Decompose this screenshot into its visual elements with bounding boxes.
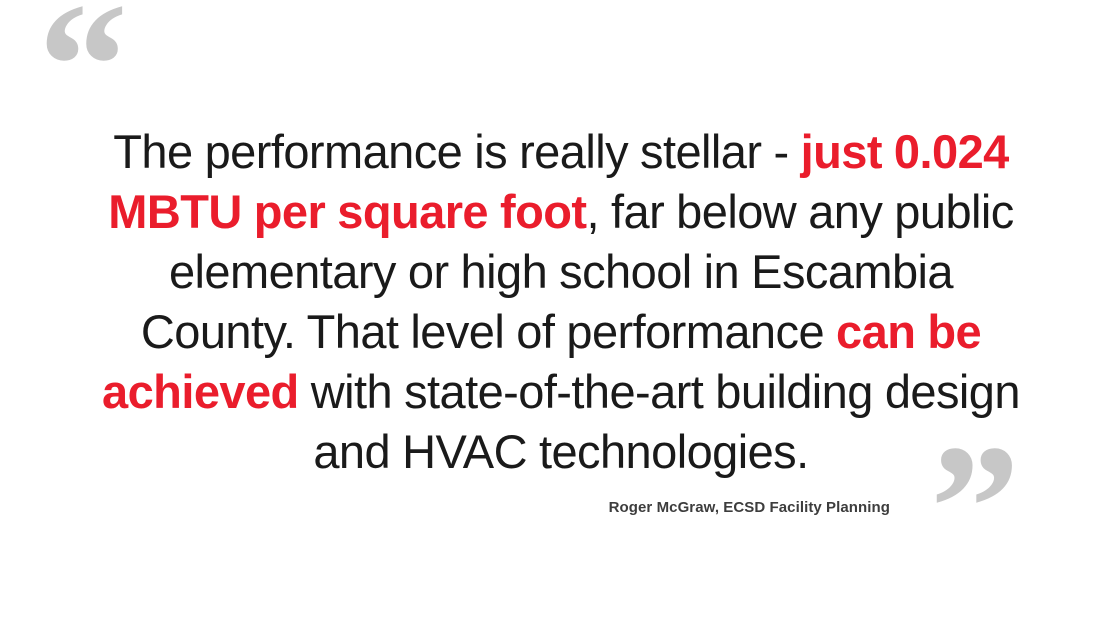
quote-segment-plain-1: The performance is really stellar -	[113, 125, 800, 178]
quote-text: The performance is really stellar - just…	[96, 122, 1026, 482]
quote-segment-plain-3: with state-of-the-art building design an…	[299, 365, 1020, 478]
close-quote-icon: ”	[930, 418, 1016, 598]
quote-slide: “ The performance is really stellar - ju…	[0, 0, 1120, 617]
quote-body: The performance is really stellar - just…	[96, 122, 1026, 482]
quote-attribution: Roger McGraw, ECSD Facility Planning	[96, 498, 890, 518]
